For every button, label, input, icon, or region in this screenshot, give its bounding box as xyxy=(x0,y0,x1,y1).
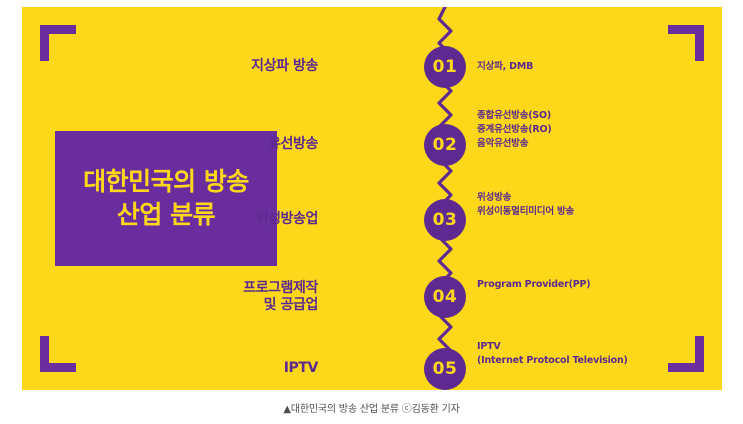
timeline-row-05[interactable]: IPTV 05 IPTV (Internet Protocol Televisi… xyxy=(22,344,722,390)
bottom-left-bracket-icon xyxy=(40,336,76,372)
timeline-badge-02[interactable]: 02 xyxy=(424,124,466,166)
zigzag-connector-icon xyxy=(430,7,460,390)
timeline-badge-01[interactable]: 01 xyxy=(424,46,466,88)
title-box: 대한민국의 방송 산업 분류 xyxy=(55,131,277,266)
timeline-row-04[interactable]: 프로그램제작 및 공급업 04 Program Provider(PP) xyxy=(22,272,722,322)
timeline-badge-03[interactable]: 03 xyxy=(424,199,466,241)
image-caption: ▲대한민국의 방송 산업 분류 ⓒ김동환 기자 xyxy=(0,400,743,415)
infographic-root: 대한민국의 방송 산업 분류 지상파 방송 01 지상파, DMB 유선방송 0… xyxy=(0,0,743,424)
bottom-right-bracket-icon xyxy=(668,336,704,372)
page-title: 대한민국의 방송 산업 분류 xyxy=(83,166,249,231)
timeline-label-04: 프로그램제작 및 공급업 xyxy=(58,280,318,315)
top-left-bracket-icon xyxy=(40,25,76,61)
timeline-row-01[interactable]: 지상파 방송 01 지상파, DMB xyxy=(22,42,722,92)
top-right-bracket-icon xyxy=(668,25,704,61)
timeline-label-01: 지상파 방송 xyxy=(58,58,318,76)
timeline-description-02: 종합유선방송(SO) 중계유선방송(RO) 음악유선방송 xyxy=(477,109,717,150)
timeline-description-04: Program Provider(PP) xyxy=(477,278,717,292)
timeline-description-01: 지상파, DMB xyxy=(477,60,717,74)
timeline-badge-04[interactable]: 04 xyxy=(424,276,466,318)
timeline-description-03: 위성방송 위성이동멀티미디어 방송 xyxy=(477,191,717,219)
timeline-badge-05[interactable]: 05 xyxy=(424,348,466,390)
poster-panel: 대한민국의 방송 산업 분류 지상파 방송 01 지상파, DMB 유선방송 0… xyxy=(22,7,722,390)
timeline-label-05: IPTV xyxy=(58,360,318,378)
